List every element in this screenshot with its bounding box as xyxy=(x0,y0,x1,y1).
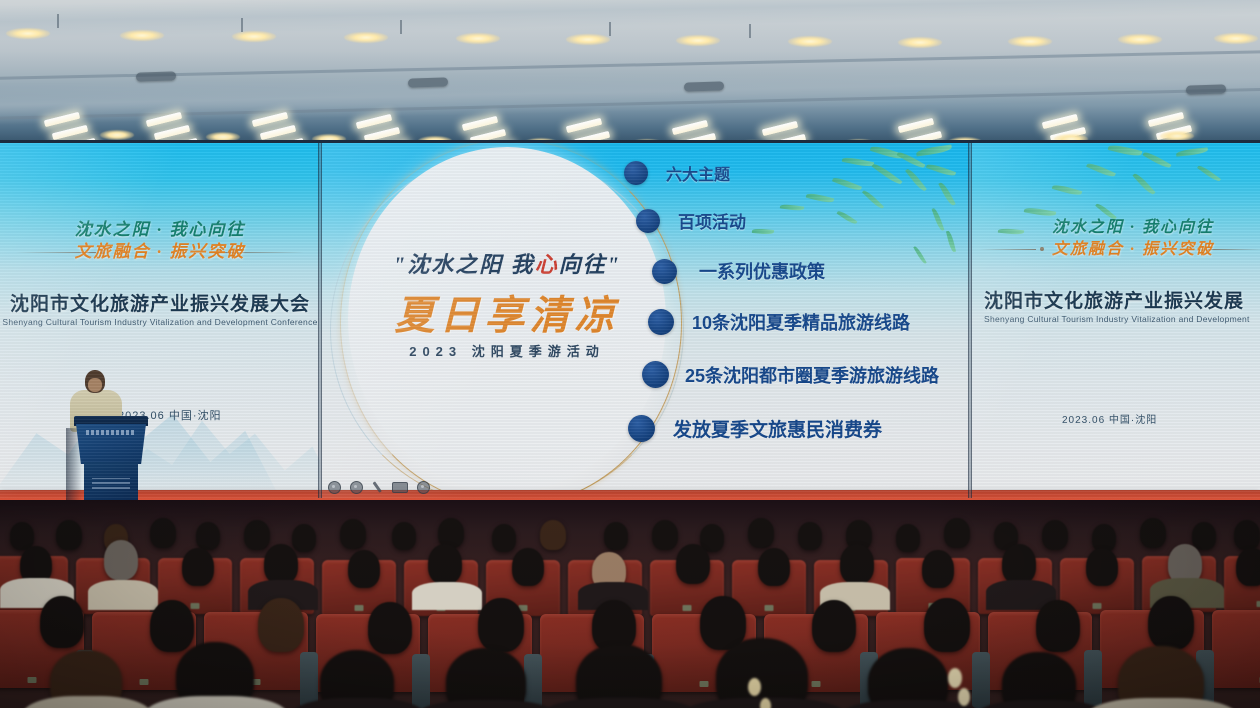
slides-grid-icon[interactable] xyxy=(392,482,408,493)
bullet-row: 25条沈阳都市圈夏季游旅游线路 xyxy=(642,361,965,388)
bullet-label: 发放夏季文旅惠民消费券 xyxy=(673,415,882,442)
more-options-icon[interactable] xyxy=(417,481,430,494)
audience-seating xyxy=(0,500,1260,708)
conference-photo: 沈水之阳 · 我心向往 文旅融合 · 振兴突破 沈阳市文化旅游产业振兴发展大会 … xyxy=(0,0,1260,708)
right-slogan-line2: 文旅融合 · 振兴突破 xyxy=(988,235,1260,259)
screen-bezel-left xyxy=(318,143,322,498)
slide-bullet-list: 六大主题 百项活动 一系列优惠政策 10条沈阳夏季精品旅游线路 25条沈阳都市圈… xyxy=(620,159,965,442)
headline-quote-suffix: 向往" xyxy=(559,252,621,277)
headline-quote-prefix: "沈水之阳 我 xyxy=(393,252,535,277)
powerpoint-presenter-controls[interactable] xyxy=(328,481,430,494)
bullet-dot-icon xyxy=(628,415,655,442)
bullet-row: 六大主题 xyxy=(624,161,965,185)
auditorium-seat xyxy=(1212,610,1260,688)
right-date-location: 2023.06 中国·沈阳 xyxy=(1062,411,1157,426)
bullet-row: 10条沈阳夏季精品旅游线路 xyxy=(648,309,965,335)
bullet-label: 百项活动 xyxy=(678,208,746,233)
bullet-dot-icon xyxy=(648,309,674,335)
bullet-label: 一系列优惠政策 xyxy=(699,258,825,284)
right-slogan-line1: 沈水之阳 · 我心向往 xyxy=(988,213,1260,237)
bullet-dot-icon xyxy=(642,361,669,388)
bullet-row: 百项活动 xyxy=(636,208,965,233)
bullet-label: 六大主题 xyxy=(666,161,730,185)
previous-slide-icon[interactable] xyxy=(328,481,341,494)
podium-lower-text xyxy=(92,478,130,489)
center-screen-panel: "沈水之阳 我心向往" 夏日享清凉 2023 沈阳夏季游活动 xyxy=(320,143,970,498)
left-screen-panel: 沈水之阳 · 我心向往 文旅融合 · 振兴突破 沈阳市文化旅游产业振兴发展大会 … xyxy=(0,143,320,498)
next-slide-icon[interactable] xyxy=(350,481,363,494)
right-screen-panel: 沈水之阳 · 我心向往 文旅融合 · 振兴突破 沈阳市文化旅游产业振兴发展 Sh… xyxy=(970,143,1260,498)
right-conference-title-cn: 沈阳市文化旅游产业振兴发展 xyxy=(984,286,1260,313)
bullet-row: 发放夏季文旅惠民消费券 xyxy=(628,415,965,442)
bullet-label: 10条沈阳夏季精品旅游线路 xyxy=(692,309,910,335)
screen-bezel-right xyxy=(968,143,972,498)
bullet-dot-icon xyxy=(636,209,660,233)
left-slogan-line2: 文旅融合 · 振兴突破 xyxy=(0,237,320,262)
headline-quote-accent: 心 xyxy=(535,252,559,277)
right-conference-title-en: Shenyang Cultural Tourism Industry Vital… xyxy=(984,314,1260,324)
bullet-label: 25条沈阳都市圈夏季游旅游线路 xyxy=(685,362,939,388)
podium-banner-text xyxy=(86,430,136,435)
left-conference-title-en: Shenyang Cultural Tourism Industry Vital… xyxy=(0,317,320,327)
bullet-row: 一系列优惠政策 xyxy=(652,258,965,284)
speaker-face xyxy=(88,378,102,392)
ceiling xyxy=(0,0,1260,150)
left-conference-title-cn: 沈阳市文化旅游产业振兴发展大会 xyxy=(0,289,320,316)
led-screen-wall: 沈水之阳 · 我心向往 文旅融合 · 振兴突破 沈阳市文化旅游产业振兴发展大会 … xyxy=(0,143,1260,498)
bullet-dot-icon xyxy=(652,259,677,284)
bullet-dot-icon xyxy=(624,161,648,185)
pen-icon[interactable] xyxy=(370,480,385,495)
